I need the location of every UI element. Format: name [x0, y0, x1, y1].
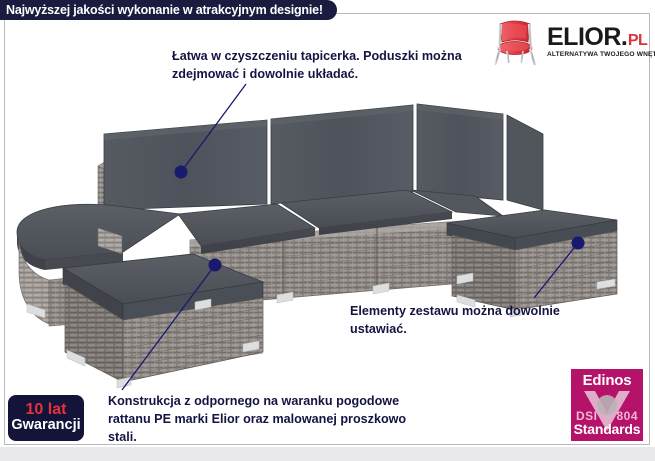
right-ottoman: [447, 210, 617, 317]
product-infographic-page: Najwyższej jakości wykonanie w atrakcyjn…: [0, 0, 655, 461]
headline-text: Najwyższej jakości wykonanie w atrakcyjn…: [6, 3, 323, 17]
headline-banner: Najwyższej jakości wykonanie w atrakcyjn…: [0, 0, 337, 20]
logo-name: ELIOR: [547, 25, 621, 50]
edinos-standards-badge: Edinos DSI 804 Standards: [571, 369, 643, 441]
brand-logo[interactable]: ELIOR . PL ALTERNATYWA TWOJEGO WNĘTRZA: [489, 16, 649, 68]
callout-text-modularity: Elementy zestawu można dowolnie ustawiać…: [350, 303, 600, 339]
warranty-badge: 10 lat Gwarancji: [8, 395, 84, 441]
callout-text-upholstery: Łatwa w czyszczeniu tapicerka. Poduszki …: [172, 48, 472, 84]
logo-wordmark: ELIOR . PL ALTERNATYWA TWOJEGO WNĘTRZA: [547, 25, 655, 59]
warranty-label: Gwarancji: [11, 418, 80, 434]
logo-tld: PL: [628, 33, 647, 49]
logo-dot: .: [621, 25, 628, 50]
edinos-subtitle: Standards: [571, 421, 643, 437]
warranty-years: 10 lat: [26, 402, 67, 419]
red-chair-icon: [489, 16, 541, 68]
edinos-title: Edinos: [571, 372, 643, 389]
logo-tagline: ALTERNATYWA TWOJEGO WNĘTRZA: [547, 52, 655, 59]
callout-text-construction: Konstrukcja z odpornego na waranku pogod…: [108, 393, 418, 447]
bottom-strip: [0, 447, 655, 461]
front-ottoman: [63, 254, 263, 388]
